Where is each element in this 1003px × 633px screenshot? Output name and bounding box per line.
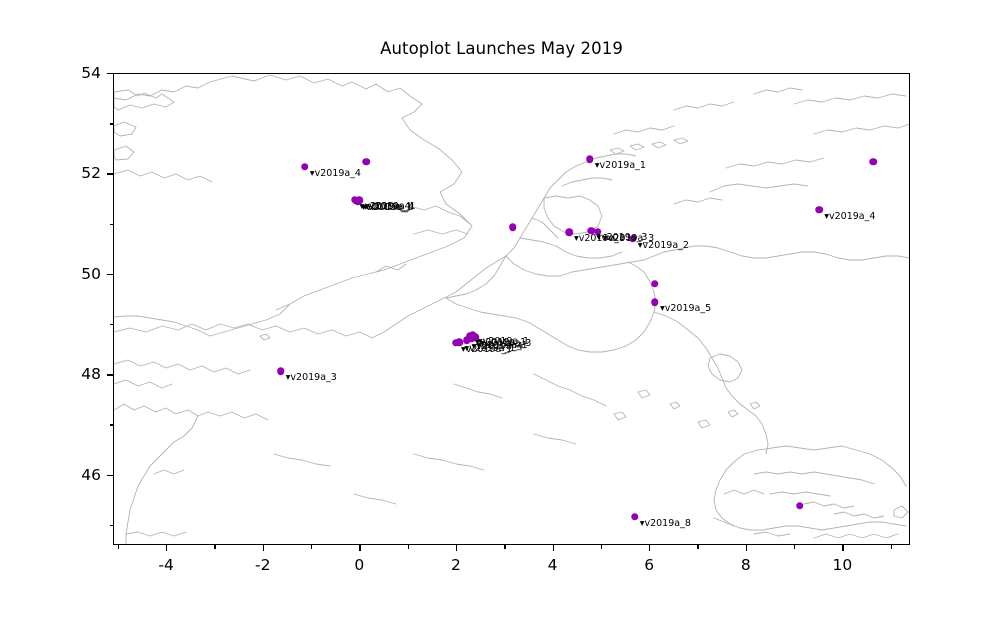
basemap-coastlines bbox=[114, 74, 910, 545]
x-axis-minor-tick bbox=[311, 545, 312, 549]
x-axis-tick-label: 0 bbox=[354, 556, 364, 574]
x-axis-tick bbox=[649, 545, 650, 551]
x-axis-tick bbox=[359, 545, 360, 551]
x-axis-tick-label: 4 bbox=[548, 556, 558, 574]
y-axis-minor-tick bbox=[110, 324, 114, 325]
y-axis-minor-tick bbox=[110, 424, 114, 425]
x-axis-tick-label: 8 bbox=[741, 556, 751, 574]
figure-canvas: Autoplot Launches May 2019 bbox=[0, 0, 1003, 633]
y-axis-tick-label: 50 bbox=[57, 265, 101, 283]
y-axis-tick-label: 48 bbox=[57, 365, 101, 383]
x-axis-tick-label: -2 bbox=[255, 556, 270, 574]
y-axis-minor-tick bbox=[110, 224, 114, 225]
page-title: Autoplot Launches May 2019 bbox=[0, 39, 1003, 58]
x-axis-tick bbox=[456, 545, 457, 551]
y-axis-tick bbox=[107, 475, 113, 476]
x-axis-minor-tick bbox=[504, 545, 505, 549]
x-axis-tick bbox=[746, 545, 747, 551]
x-axis-tick bbox=[166, 545, 167, 551]
y-axis-tick bbox=[107, 173, 113, 174]
x-axis-minor-tick bbox=[408, 545, 409, 549]
x-axis-minor-tick bbox=[697, 545, 698, 549]
y-axis-minor-tick bbox=[110, 525, 114, 526]
y-axis-tick-label: 46 bbox=[57, 466, 101, 484]
x-axis-tick bbox=[842, 545, 843, 551]
y-axis-tick bbox=[107, 274, 113, 275]
y-axis-tick bbox=[107, 73, 113, 74]
x-axis-tick-label: 2 bbox=[451, 556, 461, 574]
x-axis-tick bbox=[553, 545, 554, 551]
x-axis-minor-tick bbox=[601, 545, 602, 549]
map-plot-axes[interactable]: ▾v2019a_4▾v2019a_4▾v2019a_1▾v2019a_4▾v20… bbox=[113, 73, 910, 545]
x-axis-minor-tick bbox=[794, 545, 795, 549]
x-axis-tick-label: -4 bbox=[158, 556, 173, 574]
x-axis-tick-label: 10 bbox=[833, 556, 853, 574]
x-axis-minor-tick bbox=[891, 545, 892, 549]
y-axis-tick-label: 52 bbox=[57, 164, 101, 182]
y-axis-minor-tick bbox=[110, 123, 114, 124]
x-axis-tick-label: 6 bbox=[644, 556, 654, 574]
x-axis-tick bbox=[263, 545, 264, 551]
x-axis-minor-tick bbox=[214, 545, 215, 549]
y-axis-tick bbox=[107, 374, 113, 375]
x-axis-minor-tick bbox=[118, 545, 119, 549]
y-axis-tick-label: 54 bbox=[57, 64, 101, 82]
